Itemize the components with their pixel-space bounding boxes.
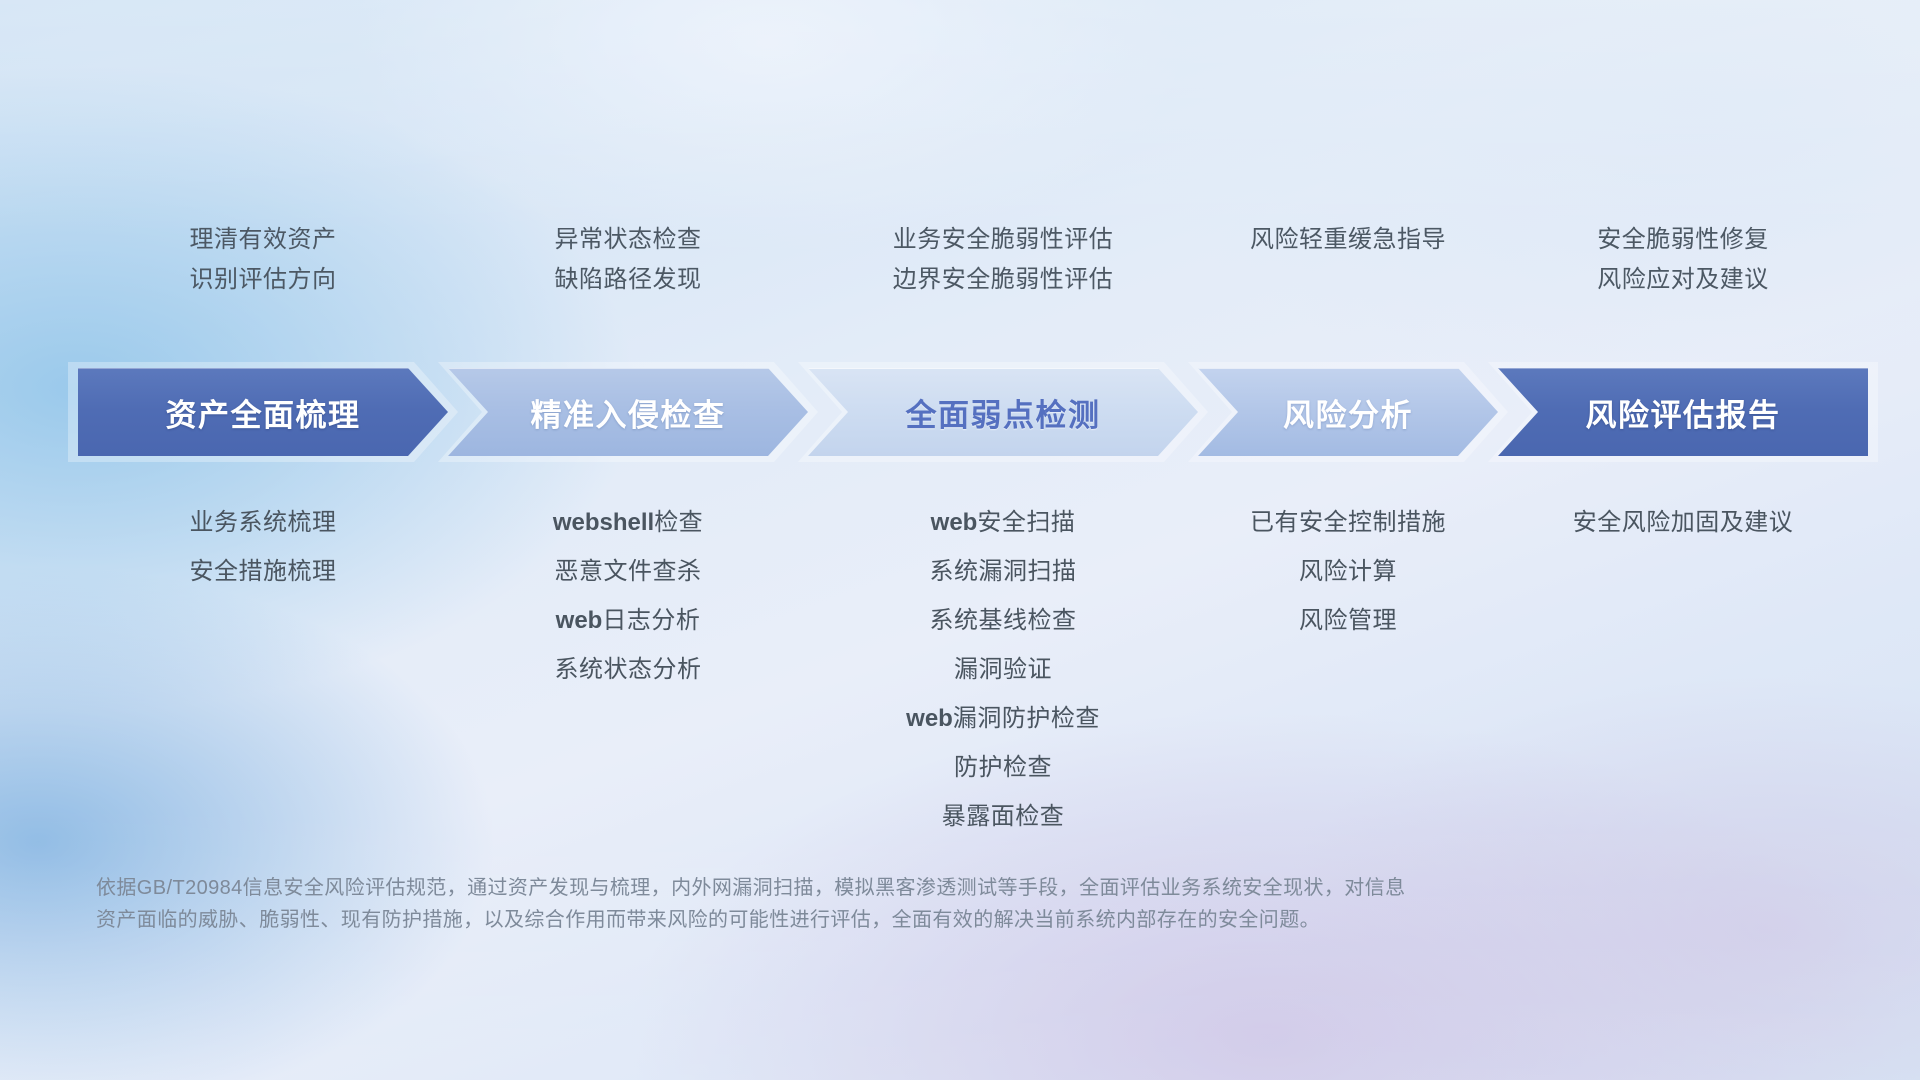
- bottom-risk-analysis-item: 已有安全控制措施: [1198, 498, 1498, 547]
- bottom-weakness-detection-item: 防护检查: [808, 743, 1198, 792]
- footer-line-2: 资产面临的威胁、脆弱性、现有防护措施，以及综合作用而带来风险的可能性进行评估，全…: [96, 904, 1626, 936]
- process-step-asset-inventory[interactable]: 资产全面梳理: [78, 368, 448, 456]
- bottom-asset-inventory-item: 安全措施梳理: [78, 547, 448, 596]
- process-step-intrusion-check[interactable]: 精准入侵检查: [448, 368, 808, 456]
- bottom-item-list-risk-analysis: 已有安全控制措施风险计算风险管理: [1198, 498, 1498, 645]
- bottom-risk-analysis-item: 风险计算: [1198, 547, 1498, 596]
- footer-note: 依据GB/T20984信息安全风险评估规范，通过资产发现与梳理，内外网漏洞扫描，…: [96, 872, 1626, 936]
- latin-token: web: [931, 509, 978, 536]
- latin-token: web: [556, 607, 603, 634]
- process-step-label: 风险分析: [1283, 390, 1413, 435]
- process-step-risk-analysis[interactable]: 风险分析: [1198, 368, 1498, 456]
- bottom-weakness-detection-item: 暴露面检查: [808, 792, 1198, 841]
- bottom-weakness-detection-item: 系统漏洞扫描: [808, 547, 1198, 596]
- process-step-weakness-detection[interactable]: 全面弱点检测: [808, 368, 1198, 456]
- slide-canvas: 理清有效资产识别评估方向异常状态检查缺陷路径发现业务安全脆弱性评估边界安全脆弱性…: [0, 0, 1920, 1080]
- bottom-weakness-detection-item: 漏洞验证: [808, 645, 1198, 694]
- bottom-intrusion-check-item: webshell检查: [448, 498, 808, 547]
- process-step-label: 精准入侵检查: [531, 390, 726, 435]
- bottom-intrusion-check-item: web日志分析: [448, 596, 808, 645]
- bottom-weakness-detection-item: web安全扫描: [808, 498, 1198, 547]
- process-step-label: 资产全面梳理: [166, 390, 361, 435]
- bottom-weakness-detection-item: 系统基线检查: [808, 596, 1198, 645]
- footer-line-1: 依据GB/T20984信息安全风险评估规范，通过资产发现与梳理，内外网漏洞扫描，…: [96, 872, 1626, 904]
- bottom-item-list-asset-inventory: 业务系统梳理安全措施梳理: [78, 498, 448, 596]
- bottom-asset-inventory-item: 业务系统梳理: [78, 498, 448, 547]
- bottom-item-list-intrusion-check: webshell检查恶意文件查杀web日志分析系统状态分析: [448, 498, 808, 694]
- process-step-label: 全面弱点检测: [906, 390, 1101, 435]
- bottom-assessment-report-item: 安全风险加固及建议: [1498, 498, 1868, 547]
- bottom-item-list-assessment-report: 安全风险加固及建议: [1498, 498, 1868, 547]
- bottom-item-list-weakness-detection: web安全扫描系统漏洞扫描系统基线检查漏洞验证web漏洞防护检查防护检查暴露面检…: [808, 498, 1198, 841]
- bottom-intrusion-check-item: 恶意文件查杀: [448, 547, 808, 596]
- bottom-weakness-detection-item: web漏洞防护检查: [808, 694, 1198, 743]
- process-step-label: 风险评估报告: [1586, 390, 1781, 435]
- bottom-intrusion-check-item: 系统状态分析: [448, 645, 808, 694]
- process-chevron-band: 资产全面梳理精准入侵检查全面弱点检测风险分析风险评估报告: [78, 368, 1868, 456]
- process-step-assessment-report[interactable]: 风险评估报告: [1498, 368, 1868, 456]
- latin-token: web: [906, 705, 953, 732]
- bottom-risk-analysis-item: 风险管理: [1198, 596, 1498, 645]
- latin-token: webshell: [553, 509, 654, 536]
